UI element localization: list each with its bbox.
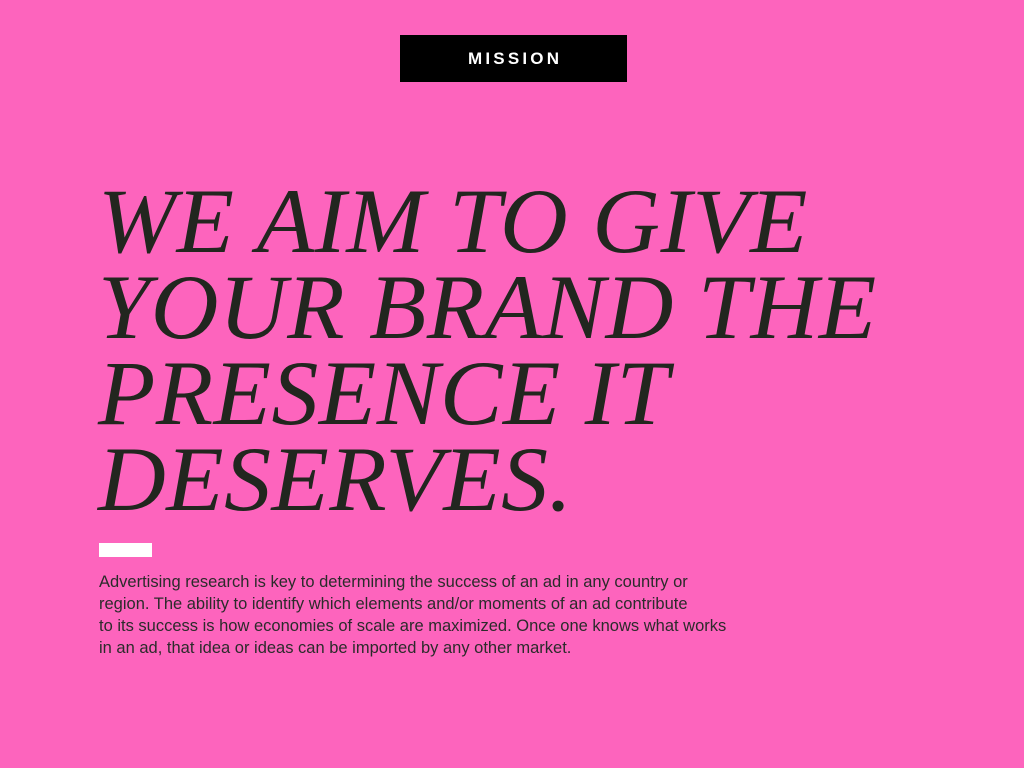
body-line-1: Advertising research is key to determini… [99, 571, 799, 593]
divider-rule [99, 543, 152, 557]
mission-eyebrow-badge: MISSION [400, 35, 627, 82]
body-line-3: to its success is how economies of scale… [99, 615, 799, 637]
headline-line-2: YOUR BRAND THE [98, 264, 975, 350]
body-line-4: in an ad, that idea or ideas can be impo… [99, 637, 799, 659]
body-line-2: region. The ability to identify which el… [99, 593, 799, 615]
headline-block: WE AIM TO GIVE YOUR BRAND THE PRESENCE I… [98, 178, 958, 522]
mission-eyebrow-label: MISSION [465, 50, 562, 67]
mission-slide: MISSION WE AIM TO GIVE YOUR BRAND THE PR… [0, 0, 1024, 768]
headline-line-3: PRESENCE IT [98, 350, 975, 436]
headline-line-4: DESERVES. [98, 436, 975, 522]
body-copy-block: Advertising research is key to determini… [99, 571, 799, 659]
headline-line-1: WE AIM TO GIVE [98, 178, 975, 264]
